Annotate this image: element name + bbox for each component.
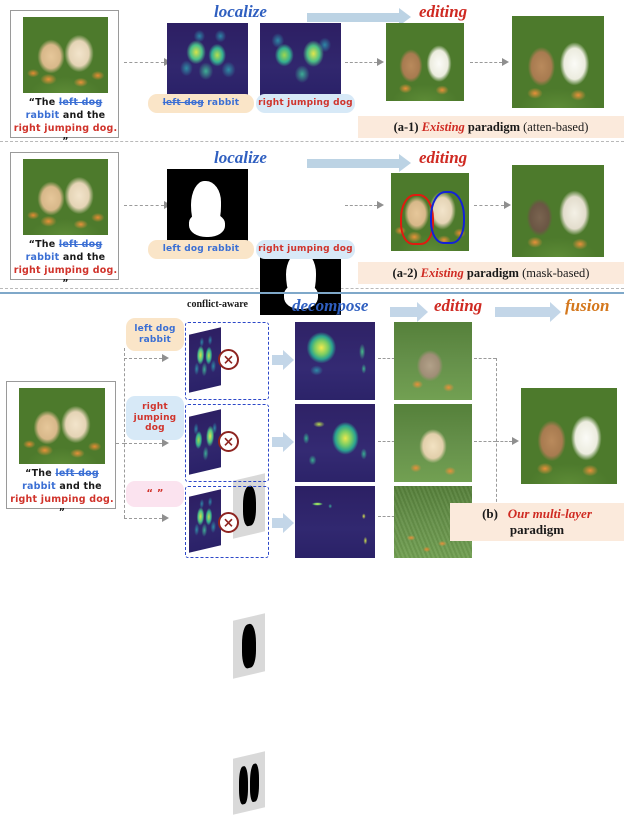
- conflict-operator-icon-3: ⨯: [218, 512, 239, 533]
- stage-label-decompose: decompose: [292, 296, 368, 316]
- caption-rabbit-b: rabbit: [22, 481, 56, 492]
- prompt-line-2: rabbit: [139, 335, 171, 345]
- caption-mid-a2: paradigm: [467, 266, 519, 281]
- fusion-bus-line: [496, 358, 497, 517]
- stage-arrow-a1: [307, 13, 400, 22]
- prompt-chip-layer1: left dog rabbit: [126, 318, 184, 351]
- prompt-chip-layer2: right jumping dog: [126, 396, 184, 440]
- input-photo-puppies-b: [19, 388, 105, 464]
- decomposed-map-1: [295, 322, 375, 400]
- fusion-stub-1: [474, 358, 496, 359]
- flow-arrow-head-a1-2: [377, 58, 384, 66]
- result-image-a2-2: [512, 165, 604, 257]
- map-label-plain: rabbit: [207, 98, 239, 108]
- decomposed-map-2: [295, 404, 375, 482]
- flow-arrow-a1-2: [345, 62, 377, 63]
- layer-attention-1: [189, 327, 221, 392]
- caption-mid-a1: paradigm: [468, 120, 520, 135]
- prompt-chip-layer3: “ ”: [126, 481, 184, 507]
- flow-arrow-a2-3: [474, 205, 504, 206]
- caption-suffix-a2: (mask-based): [522, 266, 589, 281]
- caption-right-jumping-dog-b: right jumping dog.: [10, 494, 114, 505]
- decomposed-map-3: [295, 486, 375, 558]
- attention-map-right-a1: [260, 23, 341, 96]
- conflict-operator-icon-2: ⨯: [218, 431, 239, 452]
- flow-arrow-b-r1: [124, 358, 162, 359]
- decompose-arrow-3: [272, 513, 293, 533]
- stage-label-localize-a1: localize: [214, 2, 267, 22]
- caption-quote-open-b: “The: [25, 468, 52, 479]
- map-label-right-a2: right jumping dog: [256, 240, 355, 259]
- caption-strike-left-dog: left dog: [59, 97, 102, 108]
- edited-layer-2: [394, 404, 472, 482]
- input-caption-a2: “The left dog rabbit and the right jumpi…: [13, 238, 118, 290]
- stage-label-conflict-aware: conflict-aware: [187, 299, 248, 310]
- caption-prefix-a2: (a-2): [393, 266, 418, 281]
- layer-mask-3: [233, 751, 265, 814]
- prompt-line-3: dog: [145, 423, 165, 433]
- mask-shape-a: [239, 765, 248, 805]
- region-outline-red: [400, 194, 434, 245]
- region-outline-blue: [430, 191, 465, 244]
- caption-strike-left-dog-b: left dog: [55, 468, 98, 479]
- map-label-left-a2: left dog rabbit: [148, 240, 254, 259]
- fusion-out-head: [512, 437, 519, 445]
- caption-suffix-a1: (atten-based): [523, 120, 588, 135]
- fusion-result-image: [521, 388, 617, 484]
- layer-mask-2: [233, 613, 265, 678]
- caption-right-jumping-dog-a2: right jumping dog.: [14, 265, 118, 276]
- decompose-arrow-2: [272, 432, 293, 452]
- map-label-strike: left dog: [163, 98, 204, 108]
- result-image-a1-1: [386, 23, 464, 101]
- caption-rabbit-a2: rabbit: [26, 252, 60, 263]
- mask-blob-base: [189, 213, 225, 237]
- edited-layer-1: [394, 322, 472, 400]
- mask-shape: [242, 622, 256, 669]
- flow-arrow-b-r3: [124, 518, 162, 519]
- panel-caption-b: (b) Our multi-layer paradigm: [450, 503, 624, 541]
- input-caption-a1: “The left dog rabbit and the right jumpi…: [13, 96, 118, 148]
- caption-quote-close-a2: ”: [62, 278, 68, 289]
- flow-arrow-head-a1-3: [502, 58, 509, 66]
- caption-prefix-a1: (a-1): [394, 120, 419, 135]
- input-photo-puppies-a2: [23, 159, 108, 235]
- caption-and-the-a2: and the: [63, 252, 105, 263]
- layer-attention-2: [189, 409, 221, 474]
- caption-strike-left-dog-a2: left dog: [59, 239, 102, 250]
- stage-arrow-b-2: [495, 302, 561, 322]
- flow-arrow-head-b-r2: [162, 439, 169, 447]
- caption-em-b: Our multi-layer: [508, 506, 592, 521]
- caption-mid-b: paradigm: [510, 522, 564, 537]
- conflict-operator-icon-1: ⨯: [218, 349, 239, 370]
- caption-prefix-b: (b): [482, 506, 498, 521]
- flow-arrow-a1-1: [124, 62, 164, 63]
- input-card-a2: “The left dog rabbit and the right jumpi…: [10, 152, 119, 280]
- caption-em-a2: Existing: [421, 266, 464, 281]
- input-card-b: “The left dog rabbit and the right jumpi…: [6, 381, 116, 509]
- stage-label-editing-a1: editing: [419, 2, 467, 22]
- panel-caption-a2: (a-2) Existing paradigm (mask-based): [358, 262, 624, 284]
- caption-and-the: and the: [63, 110, 105, 121]
- attention-map-left-a1: [167, 23, 248, 96]
- flow-arrow-head-b-r3: [162, 514, 169, 522]
- prompt-bus-line: [124, 348, 125, 518]
- panel-caption-a1: (a-1) Existing paradigm (atten-based): [358, 116, 624, 138]
- panel-divider-3: [0, 292, 624, 294]
- stage-label-fusion: fusion: [565, 296, 609, 316]
- fusion-out-line: [496, 441, 512, 442]
- flow-arrow-head-a2-2: [377, 201, 384, 209]
- flow-arrow-b-r2: [124, 443, 162, 444]
- caption-and-the-b: and the: [59, 481, 101, 492]
- flow-arrow-a1-3: [470, 62, 502, 63]
- caption-quote-close-b: ”: [59, 507, 65, 518]
- input-photo-puppies: [23, 17, 108, 93]
- caption-quote-open: “The: [29, 97, 56, 108]
- caption-right-jumping-dog: right jumping dog.: [14, 123, 118, 134]
- figure-root: “The left dog rabbit and the right jumpi…: [0, 0, 624, 564]
- stage-label-editing-b: editing: [434, 296, 482, 316]
- caption-em-a1: Existing: [422, 120, 465, 135]
- flow-arrow-head-a2-3: [504, 201, 511, 209]
- input-caption-b: “The left dog rabbit and the right jumpi…: [9, 467, 115, 519]
- decompose-arrow-1: [272, 350, 293, 370]
- binary-mask-left-a2: [167, 169, 248, 242]
- caption-quote-close: ”: [62, 136, 68, 147]
- stage-label-editing-a2: editing: [419, 148, 467, 168]
- flow-arrow-head-b-r1: [162, 354, 169, 362]
- mask-shape-b: [250, 763, 259, 803]
- stage-label-localize-a2: localize: [214, 148, 267, 168]
- prompt-line-2: jumping: [134, 413, 177, 423]
- prompt-line-1: left dog: [134, 324, 175, 334]
- caption-rabbit: rabbit: [26, 110, 60, 121]
- result-image-a2-1: [391, 173, 469, 251]
- stage-arrow-b-1: [390, 302, 428, 322]
- fusion-stub-2: [474, 441, 496, 442]
- flow-arrow-a2-2: [345, 205, 377, 206]
- map-label-left-a1: left dog rabbit: [148, 94, 254, 113]
- prompt-line-1: right: [142, 402, 168, 412]
- stage-arrow-a2: [307, 159, 400, 168]
- flow-arrow-a2-1: [124, 205, 164, 206]
- caption-quote-open-a2: “The: [29, 239, 56, 250]
- layer-attention-3: [189, 489, 221, 552]
- result-image-a1-2: [512, 16, 604, 108]
- input-card-a1: “The left dog rabbit and the right jumpi…: [10, 10, 119, 138]
- map-label-right-a1: right jumping dog: [256, 94, 355, 113]
